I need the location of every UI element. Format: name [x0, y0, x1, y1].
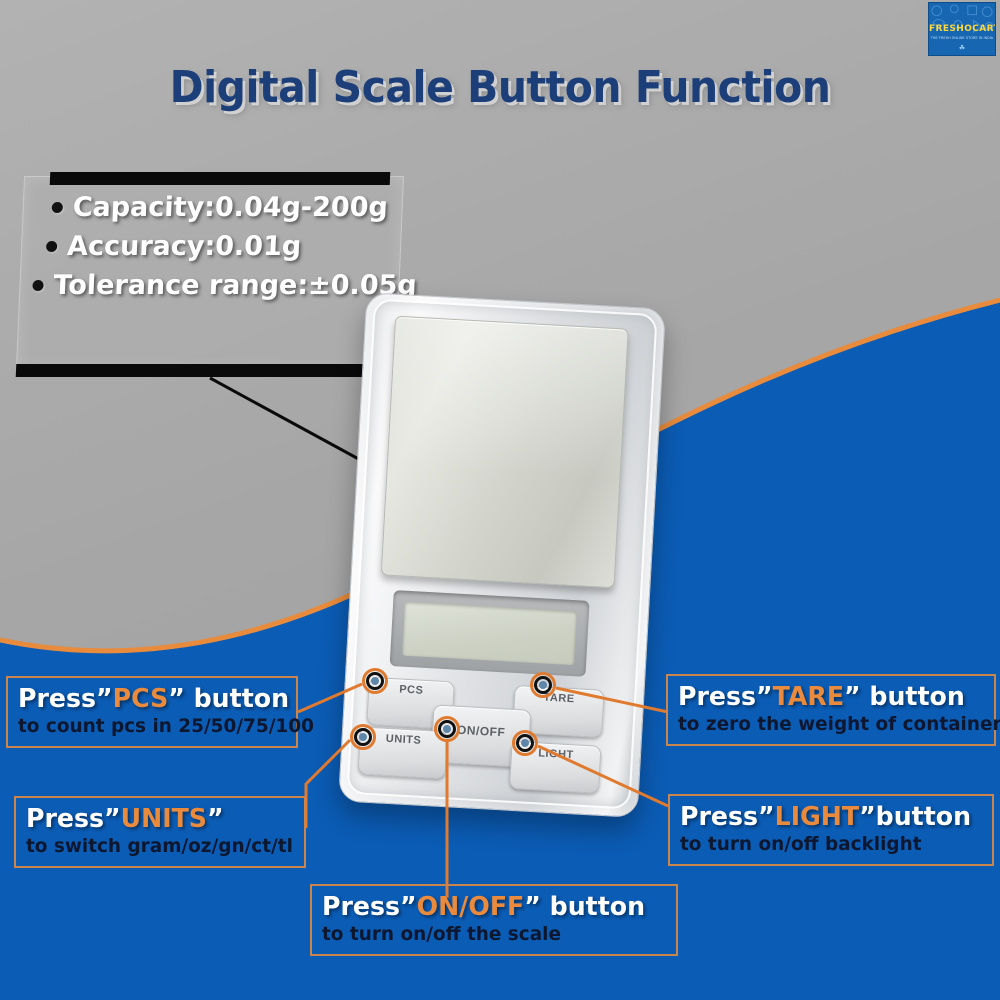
callout-units-text: Press”UNITS” to switch gram/oz/gn/ct/tl: [16, 798, 304, 864]
callout-units[interactable]: Press”UNITS” to switch gram/oz/gn/ct/tl: [14, 796, 306, 868]
keypad: PCS TARE ON/OFF UNITS LIGHT: [357, 676, 627, 803]
spec-list: Capacity:0.04g-200g Accuracy:0.01g Toler…: [30, 192, 407, 309]
callout-tare-title: Press”TARE” button: [678, 682, 975, 712]
brand-logo[interactable]: FRESHOCART THE FRESH ONLINE STORE IN IND…: [928, 2, 996, 56]
callout-tare-detail: to zero the weight of container: [678, 713, 975, 735]
target-core-icon: [521, 739, 529, 747]
spec-capacity-text: Capacity:0.04g-200g: [72, 192, 388, 223]
weighing-platform: [381, 316, 629, 589]
bullet-icon: [46, 241, 57, 252]
infographic-canvas: FRESHOCART THE FRESH ONLINE STORE IN IND…: [0, 0, 1000, 1000]
spec-item-capacity: Capacity:0.04g-200g: [51, 192, 406, 223]
callout-onoff-title: Press”ON/OFF” button: [322, 892, 656, 922]
key-tare-label: TARE: [515, 690, 604, 707]
target-ring-icon: [516, 734, 534, 752]
target-marker-light: [512, 730, 538, 756]
callout-onoff-detail: to turn on/off the scale: [322, 923, 656, 945]
spec-bar-bottom: [16, 364, 399, 377]
logo-tagline: THE FRESH ONLINE STORE IN INDIA: [929, 36, 995, 40]
callout-pcs[interactable]: Press”PCS” button to count pcs in 25/50/…: [6, 676, 298, 748]
callout-onoff[interactable]: Press”ON/OFF” button to turn on/off the …: [310, 884, 678, 956]
target-core-icon: [443, 725, 451, 733]
digital-scale-device: PCS TARE ON/OFF UNITS LIGHT: [338, 292, 666, 818]
target-marker-tare: [530, 672, 556, 698]
logo-name: FRESHOCART: [929, 24, 995, 34]
bullet-icon: [52, 202, 63, 213]
platform-sheen: [388, 317, 628, 479]
callout-units-detail: to switch gram/oz/gn/ct/tl: [26, 835, 286, 857]
callout-units-title: Press”UNITS”: [26, 804, 286, 834]
lcd-display: [402, 602, 577, 666]
target-ring-icon: [354, 728, 372, 746]
callout-pcs-title: Press”PCS” button: [18, 684, 278, 714]
lcd-bezel: [390, 590, 590, 677]
spec-item-tolerance: Tolerance range:±0.05g: [32, 270, 403, 301]
callout-light-title: Press”LIGHT”button: [680, 802, 973, 832]
target-ring-icon: [534, 676, 552, 694]
target-core-icon: [359, 733, 367, 741]
specifications-panel: Capacity:0.04g-200g Accuracy:0.01g Toler…: [14, 164, 414, 384]
spec-bar-top: [50, 172, 391, 185]
callout-pcs-detail: to count pcs in 25/50/75/100: [18, 715, 278, 737]
callout-pcs-text: Press”PCS” button to count pcs in 25/50/…: [8, 678, 296, 744]
page-title: Digital Scale Button Function: [35, 62, 965, 113]
spec-accuracy-text: Accuracy:0.01g: [67, 231, 302, 262]
target-marker-units: [350, 724, 376, 750]
logo-leaf-icon: ☘: [929, 44, 995, 52]
spec-item-accuracy: Accuracy:0.01g: [46, 231, 405, 262]
bullet-icon: [32, 280, 43, 291]
target-ring-icon: [438, 720, 456, 738]
target-core-icon: [539, 681, 547, 689]
target-marker-pcs: [362, 668, 388, 694]
callout-light[interactable]: Press”LIGHT”button to turn on/off backli…: [668, 794, 994, 866]
callout-light-text: Press”LIGHT”button to turn on/off backli…: [670, 796, 992, 862]
spec-tolerance-text: Tolerance range:±0.05g: [53, 270, 417, 301]
target-marker-onoff: [434, 716, 460, 742]
callout-onoff-text: Press”ON/OFF” button to turn on/off the …: [312, 886, 676, 952]
target-ring-icon: [366, 672, 384, 690]
target-core-icon: [371, 677, 379, 685]
callout-tare-text: Press”TARE” button to zero the weight of…: [668, 676, 994, 742]
callout-tare[interactable]: Press”TARE” button to zero the weight of…: [666, 674, 996, 746]
callout-light-detail: to turn on/off backlight: [680, 833, 973, 855]
